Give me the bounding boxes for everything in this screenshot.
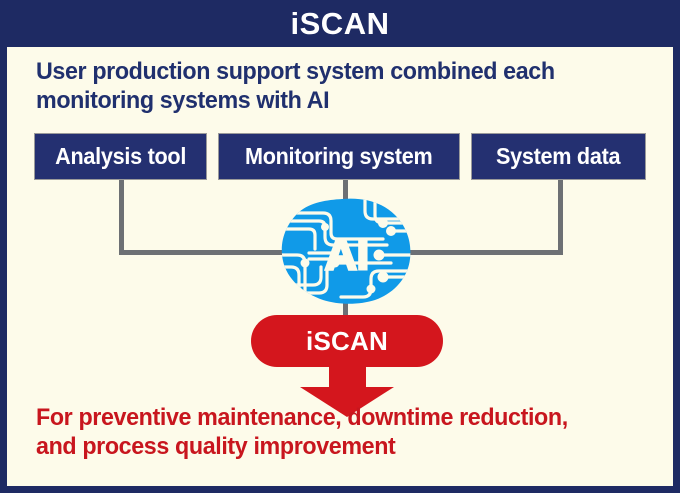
page-title: iSCAN: [291, 8, 390, 39]
source-box-label: System data: [496, 143, 620, 170]
subtitle: User production support system combined …: [36, 58, 620, 115]
header-bar: iSCAN: [0, 0, 680, 47]
content-panel: User production support system combined …: [7, 47, 673, 486]
footer-text: For preventive maintenance, downtime red…: [36, 404, 625, 461]
iscan-infographic: iSCAN User production support system com…: [0, 0, 680, 493]
svg-text:AI: AI: [325, 230, 369, 279]
footer-line-1: For preventive maintenance, downtime red…: [36, 404, 625, 433]
subtitle-line-2: monitoring systems with AI: [36, 87, 620, 116]
source-box-system-data[interactable]: System data: [471, 133, 646, 180]
connector-line-left-vertical: [119, 180, 124, 254]
source-box-monitoring-system[interactable]: Monitoring system: [218, 133, 460, 180]
source-box-analysis-tool[interactable]: Analysis tool: [34, 133, 207, 180]
source-box-label: Analysis tool: [55, 143, 186, 170]
connector-line-right-vertical: [558, 180, 563, 254]
subtitle-line-1: User production support system combined …: [36, 58, 620, 87]
ai-brain-icon: AI: [279, 197, 414, 305]
connector-line-left-horizontal: [119, 250, 304, 255]
arrow-stem: [329, 359, 366, 389]
source-box-label: Monitoring system: [245, 143, 432, 170]
result-badge-label: iSCAN: [306, 326, 388, 357]
footer-line-2: and process quality improvement: [36, 433, 625, 462]
